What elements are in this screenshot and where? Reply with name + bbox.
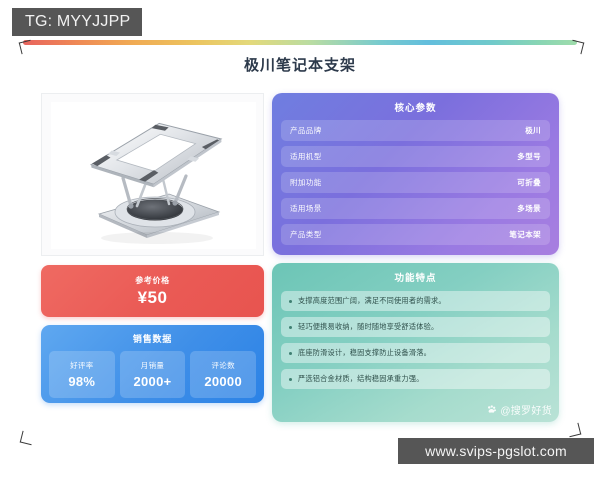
watermark: @搜罗好货 xyxy=(486,402,552,417)
parameter-key: 产品品牌 xyxy=(290,125,322,136)
parameter-key: 附加功能 xyxy=(290,177,322,188)
frame-corner-bottom-left-icon xyxy=(20,431,35,446)
sales-stat-value: 2000+ xyxy=(134,374,172,389)
parameter-row: 附加功能 可折叠 xyxy=(281,172,550,193)
parameter-row: 适用机型 多型号 xyxy=(281,146,550,167)
sales-data-title: 销售数据 xyxy=(49,332,256,345)
feature-item: 支撑高度范围广阔，满足不同使用者的需求。 xyxy=(281,291,550,311)
parameter-value: 多场景 xyxy=(517,203,541,214)
parameter-value: 极川 xyxy=(525,125,541,136)
sales-stat-label: 评论数 xyxy=(211,360,234,371)
features-title: 功能特点 xyxy=(281,270,550,284)
product-infographic-page: TG: MYYJJPP 极川笔记本支架 xyxy=(0,0,600,480)
feature-text: 严选铝合金材质，结构稳固承重力强。 xyxy=(298,374,424,384)
bullet-dot-icon xyxy=(289,378,292,381)
feature-item: 严选铝合金材质，结构稳固承重力强。 xyxy=(281,369,550,389)
footer-url-badge: www.svips-pgslot.com xyxy=(398,438,594,464)
features-card: 功能特点 支撑高度范围广阔，满足不同使用者的需求。 轻巧便携易收纳，随时随地享受… xyxy=(272,263,559,422)
top-gradient-divider xyxy=(23,40,577,45)
price-value: ¥50 xyxy=(138,288,168,308)
sales-stat-value: 98% xyxy=(68,374,95,389)
sales-stat-item: 评论数 20000 xyxy=(190,351,256,398)
watermark-text: @搜罗好货 xyxy=(500,402,552,417)
parameter-value: 可折叠 xyxy=(517,177,541,188)
sales-stat-value: 20000 xyxy=(204,374,242,389)
core-parameters-title: 核心参数 xyxy=(281,100,550,114)
feature-text: 支撑高度范围广阔，满足不同使用者的需求。 xyxy=(298,296,446,306)
sales-stat-label: 好评率 xyxy=(70,360,93,371)
feature-item: 轻巧便携易收纳，随时随地享受舒适体验。 xyxy=(281,317,550,337)
feature-text: 底座防滑设计，稳固支撑防止设备滑落。 xyxy=(298,348,431,358)
page-title: 极川笔记本支架 xyxy=(0,54,600,75)
feature-text: 轻巧便携易收纳，随时随地享受舒适体验。 xyxy=(298,322,438,332)
core-parameters-card: 核心参数 产品品牌 极川 适用机型 多型号 附加功能 可折叠 适用场景 多场景 … xyxy=(272,93,559,255)
price-label: 参考价格 xyxy=(135,275,169,286)
reference-price-card: 参考价格 ¥50 xyxy=(41,265,264,317)
sales-data-card: 销售数据 好评率 98% 月销量 2000+ 评论数 20000 xyxy=(41,325,264,403)
telegram-handle-badge: TG: MYYJJPP xyxy=(12,8,142,36)
frame-corner-bottom-right-icon xyxy=(567,423,582,438)
paw-icon xyxy=(486,404,497,415)
product-image-card xyxy=(41,93,264,256)
feature-item: 底座防滑设计，稳固支撑防止设备滑落。 xyxy=(281,343,550,363)
parameter-row: 适用场景 多场景 xyxy=(281,198,550,219)
frame-corner-top-left-icon xyxy=(19,40,34,55)
frame-corner-top-right-icon xyxy=(570,40,585,55)
bullet-dot-icon xyxy=(289,352,292,355)
right-column: 核心参数 产品品牌 极川 适用机型 多型号 附加功能 可折叠 适用场景 多场景 … xyxy=(272,93,559,422)
parameter-key: 适用机型 xyxy=(290,151,322,162)
sales-stat-label: 月销量 xyxy=(141,360,164,371)
sales-stats-grid: 好评率 98% 月销量 2000+ 评论数 20000 xyxy=(49,351,256,398)
parameter-value: 多型号 xyxy=(517,151,541,162)
bullet-dot-icon xyxy=(289,326,292,329)
bullet-dot-icon xyxy=(289,300,292,303)
sales-stat-item: 月销量 2000+ xyxy=(120,351,186,398)
parameter-row: 产品类型 笔记本架 xyxy=(281,224,550,245)
product-photo xyxy=(51,102,256,249)
parameter-value: 笔记本架 xyxy=(509,229,541,240)
sales-stat-item: 好评率 98% xyxy=(49,351,115,398)
parameter-row: 产品品牌 极川 xyxy=(281,120,550,141)
parameter-key: 产品类型 xyxy=(290,229,322,240)
parameter-key: 适用场景 xyxy=(290,203,322,214)
left-column: 参考价格 ¥50 销售数据 好评率 98% 月销量 2000+ 评论数 2000… xyxy=(41,93,264,403)
laptop-stand-illustration xyxy=(51,102,256,249)
